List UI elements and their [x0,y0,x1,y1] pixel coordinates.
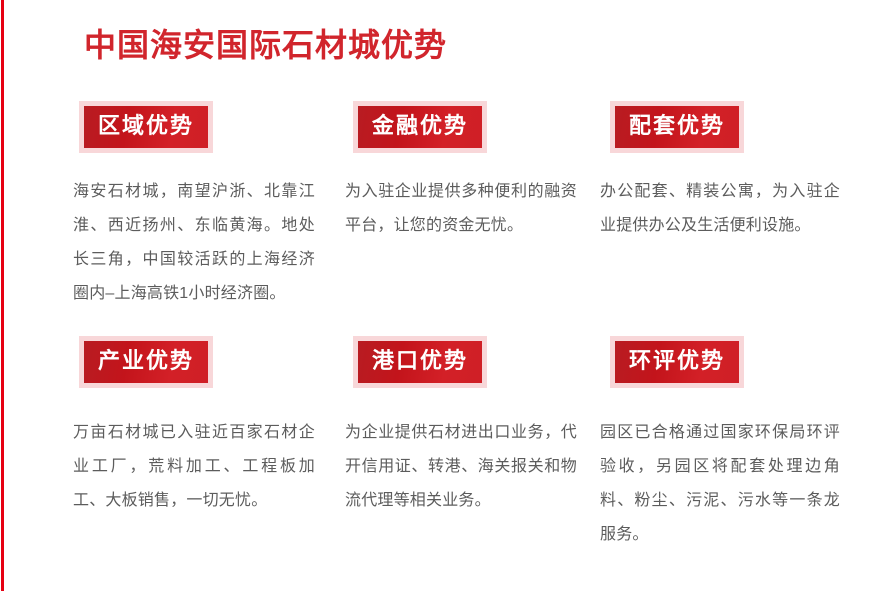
badge-frame: 港口优势 [353,336,487,388]
advantage-card-industry: 产业优势 万亩石材城已入驻近百家石材企业工厂，荒料加工、工程板加工、大板销售，一… [73,336,323,534]
advantage-body-text: 海安石材城，南望沪浙、北靠江淮、西近扬州、东临黄海。地处长三角，中国较活跃的上海… [73,175,315,311]
badge-frame: 配套优势 [610,101,744,153]
advantage-badge-label: 金融优势 [358,106,482,148]
badge-frame: 金融优势 [353,101,487,153]
badge-frame: 区域优势 [79,101,213,153]
advantages-grid: 区域优势 海安石材城，南望沪浙、北靠江淮、西近扬州、东临黄海。地处长三角，中国较… [0,101,893,571]
advantage-body-text: 万亩石材城已入驻近百家石材企业工厂，荒料加工、工程板加工、大板销售，一切无忧。 [73,416,315,518]
advantages-row-1: 区域优势 海安石材城，南望沪浙、北靠江淮、西近扬州、东临黄海。地处长三角，中国较… [0,101,893,336]
advantage-body-text: 办公配套、精装公寓，为入驻企业提供办公及生活便利设施。 [600,175,840,243]
page-title: 中国海安国际石材城优势 [84,23,447,67]
badge-frame: 环评优势 [610,336,744,388]
advantage-badge-label: 产业优势 [84,341,208,383]
advantage-badge-label: 港口优势 [358,341,482,383]
advantage-card-port: 港口优势 为企业提供石材进出口业务，代开信用证、转港、海关报关和物流代理等相关业… [345,336,585,534]
advantages-row-2: 产业优势 万亩石材城已入驻近百家石材企业工厂，荒料加工、工程板加工、大板销售，一… [0,336,893,571]
advantage-card-environment: 环评优势 园区已合格通过国家环保局环评验收，另园区将配套处理边角料、粉尘、污泥、… [600,336,850,568]
advantage-body-text: 园区已合格通过国家环保局环评验收，另园区将配套处理边角料、粉尘、污泥、污水等一条… [600,416,840,552]
advantage-badge-label: 环评优势 [615,341,739,383]
badge-frame: 产业优势 [79,336,213,388]
advantage-card-region: 区域优势 海安石材城，南望沪浙、北靠江淮、西近扬州、东临黄海。地处长三角，中国较… [73,101,323,327]
advantage-body-text: 为入驻企业提供多种便利的融资平台，让您的资金无忧。 [345,175,577,243]
advantage-body-text: 为企业提供石材进出口业务，代开信用证、转港、海关报关和物流代理等相关业务。 [345,416,577,518]
advantages-page: 中国海安国际石材城优势 区域优势 海安石材城，南望沪浙、北靠江淮、西近扬州、东临… [0,0,893,591]
advantage-badge-label: 区域优势 [84,106,208,148]
advantage-badge-label: 配套优势 [615,106,739,148]
advantage-card-finance: 金融优势 为入驻企业提供多种便利的融资平台，让您的资金无忧。 [345,101,585,259]
advantage-card-facilities: 配套优势 办公配套、精装公寓，为入驻企业提供办公及生活便利设施。 [600,101,850,259]
